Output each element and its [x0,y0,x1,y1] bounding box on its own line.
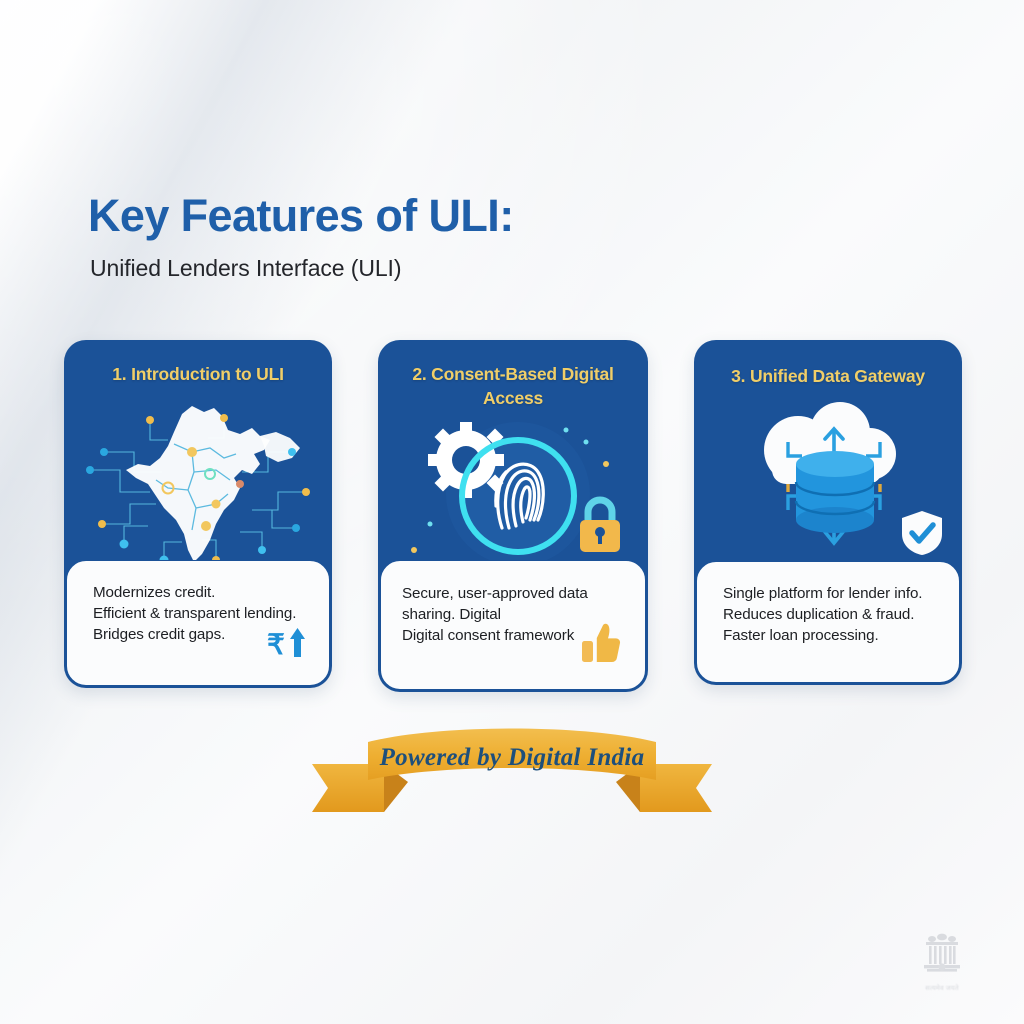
feature-card-introduction[interactable]: 1. Introduction to ULI [64,340,332,688]
card-text-panel: Modernizes credit. Efficient & transpare… [66,560,330,686]
heading-block: Key Features of ULI: Unified Lenders Int… [88,192,514,282]
card-header-label: 1. Introduction to ULI [64,340,332,386]
feature-card-consent[interactable]: 2. Consent-Based Digital Access [378,340,648,692]
thumbs-up-icon [579,621,623,665]
card-text-panel: Secure, user-approved data sharing. Digi… [380,560,646,690]
rupee-growth-arrow-icon: ₹ [267,623,307,663]
page-subtitle: Unified Lenders Interface (ULI) [90,255,514,282]
card-body-text: Single platform for lender info. Reduces… [723,584,941,647]
feature-card-gateway[interactable]: 3. Unified Data Gateway [694,340,962,685]
page-title: Key Features of ULI: [88,192,514,241]
india-network-map-icon [64,392,332,572]
card-text-panel: Single platform for lender info. Reduces… [696,561,960,683]
fingerprint-gear-lock-icon [378,402,648,582]
card-header-label: 3. Unified Data Gateway [694,340,962,388]
shield-check-icon [900,509,944,557]
powered-by-ribbon: Powered by Digital India [310,722,714,826]
watermark-caption: सत्यमेव जयते [900,983,984,992]
svg-text:₹: ₹ [267,629,285,660]
card-header-label: 2. Consent-Based Digital Access [378,340,648,410]
national-emblem-icon [919,931,965,981]
national-emblem-watermark: सत्यमेव जयते [900,931,984,992]
